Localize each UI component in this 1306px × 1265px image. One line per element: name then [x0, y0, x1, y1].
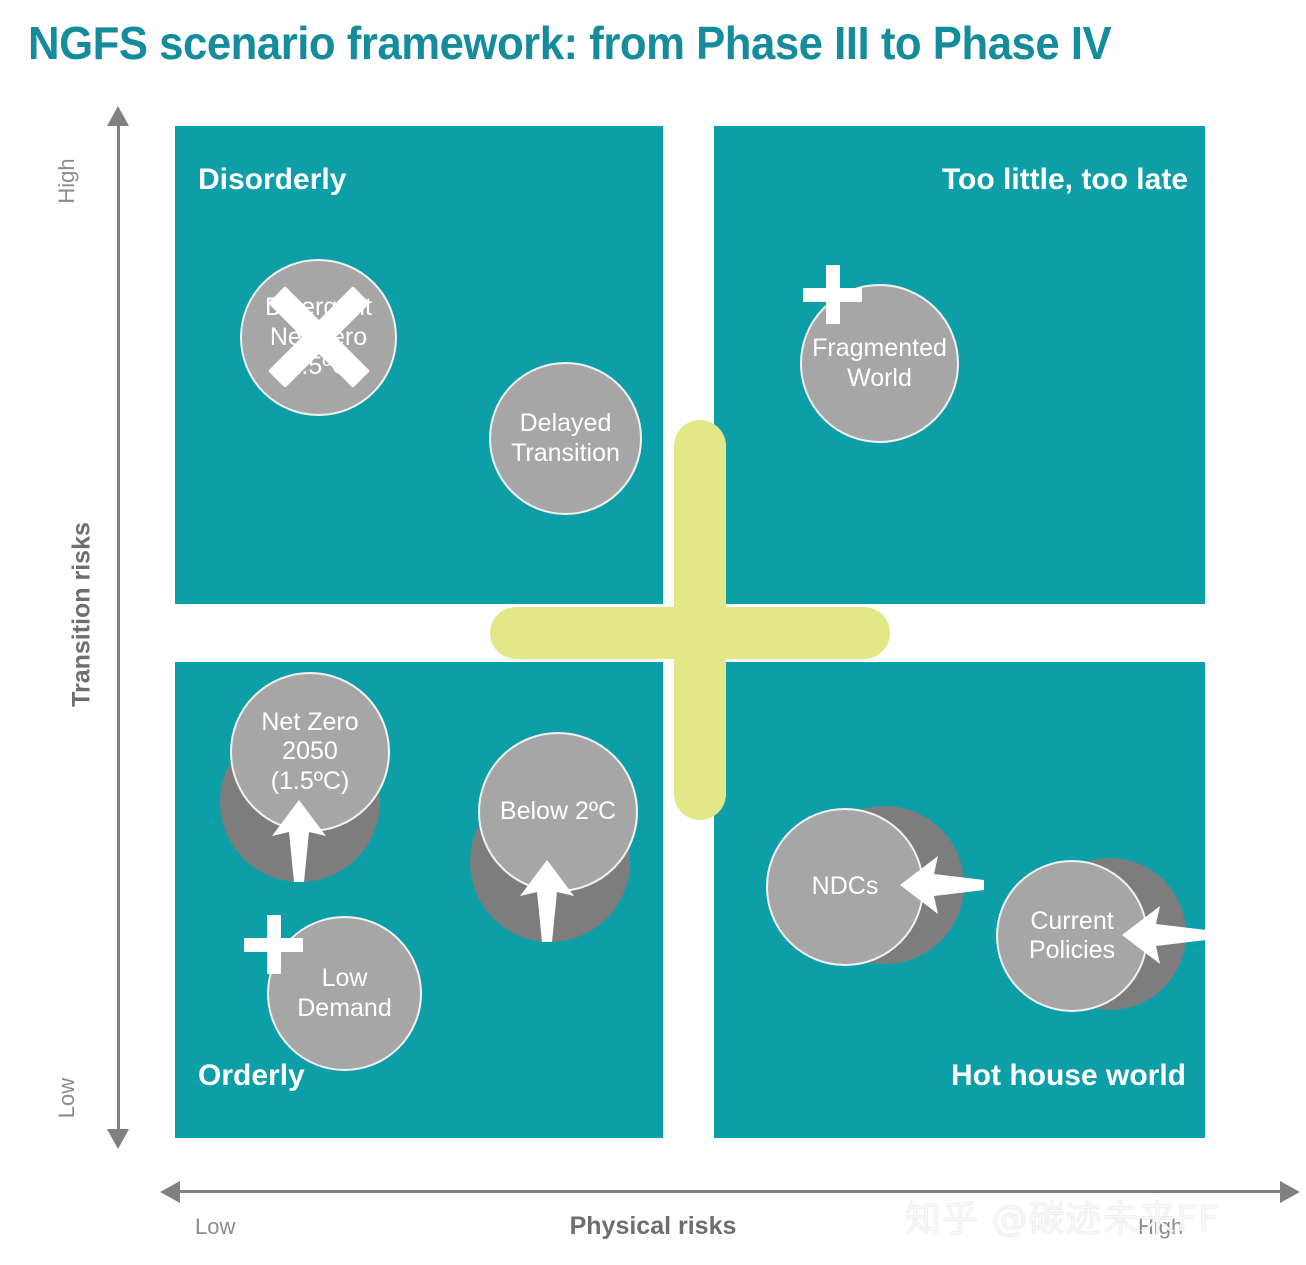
y-axis-arrow-down-icon — [107, 1129, 129, 1149]
scenario-bubble-body: Delayed Transition — [489, 362, 642, 515]
scenario-bubble-body: Fragmented World — [800, 284, 959, 443]
quadrant-label-hot-house-world: Hot house world — [714, 1059, 1186, 1093]
highlight-cross-horizontal — [490, 607, 890, 659]
scenario-bubble-body: Low Demand — [267, 916, 422, 1071]
scenario-label: Below 2ºC — [500, 797, 616, 827]
y-axis-tick-low: Low — [54, 1053, 80, 1143]
scenario-label: Current Policies — [1029, 907, 1115, 966]
scenario-net-zero-2050[interactable]: Net Zero 2050 (1.5ºC) — [220, 672, 390, 882]
scenario-bubble-body: NDCs — [766, 808, 924, 966]
y-axis-arrow-up-icon — [107, 106, 129, 126]
scenario-below-2c[interactable]: Below 2ºC — [470, 732, 638, 942]
scenario-ndcs[interactable]: NDCs — [766, 806, 964, 966]
y-axis-line — [117, 122, 120, 1132]
x-axis-arrow-left-icon — [160, 1181, 180, 1203]
scenario-current-policies[interactable]: Current Policies — [996, 858, 1186, 1013]
scenario-label: Delayed Transition — [511, 409, 620, 468]
scenario-bubble-body: Below 2ºC — [478, 732, 638, 892]
scenario-label: NDCs — [812, 872, 879, 902]
quadrant-label-disorderly: Disorderly — [198, 163, 346, 197]
scenario-delayed-transition[interactable]: Delayed Transition — [489, 362, 642, 515]
x-axis-tick-low: Low — [195, 1214, 235, 1240]
quadrant-label-too-little-too-late: Too little, too late — [714, 163, 1188, 197]
x-axis-line — [178, 1190, 1283, 1193]
scenario-low-demand[interactable]: Low Demand — [267, 916, 422, 1071]
scenario-label: Low Demand — [297, 964, 392, 1023]
scenario-bubble-body: Divergent Net Zero (1.5ºC) — [240, 259, 397, 416]
y-axis-tick-high: High — [54, 136, 80, 226]
y-axis-title: Transition risks — [68, 515, 97, 715]
scenario-divergent-net-zero[interactable]: Divergent Net Zero (1.5ºC) — [240, 259, 397, 416]
scenario-bubble-body: Net Zero 2050 (1.5ºC) — [230, 672, 390, 832]
scenario-matrix: Disorderly Too little, too late Orderly … — [0, 0, 1306, 1265]
scenario-label: Net Zero 2050 (1.5ºC) — [261, 708, 358, 797]
scenario-label: Fragmented World — [812, 334, 947, 393]
scenario-fragmented-world[interactable]: Fragmented World — [800, 284, 959, 443]
quadrant-too-little-too-late — [714, 126, 1205, 604]
x-axis-arrow-right-icon — [1280, 1181, 1300, 1203]
x-axis-tick-high: High — [1138, 1214, 1183, 1240]
scenario-bubble-body: Current Policies — [996, 860, 1148, 1012]
scenario-label: Divergent Net Zero (1.5ºC) — [265, 293, 372, 382]
